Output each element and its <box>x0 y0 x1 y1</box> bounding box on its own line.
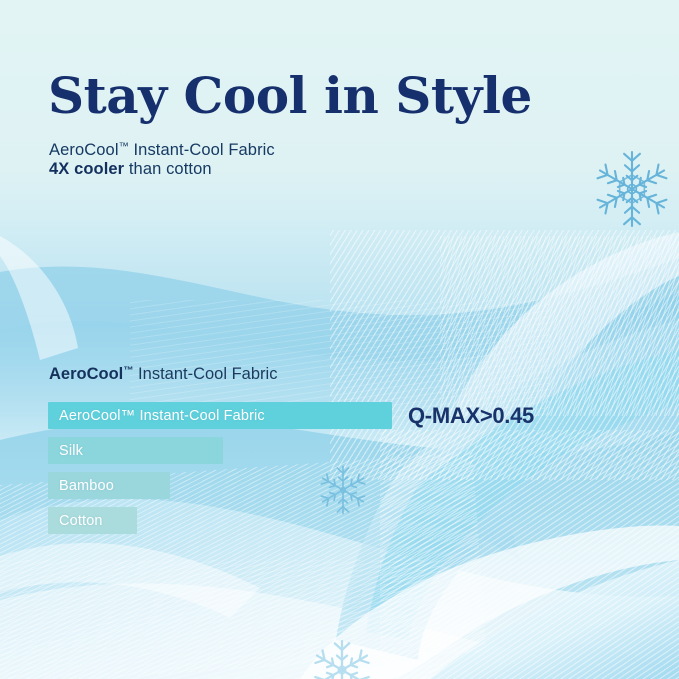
chart-bar-bamboo: Bamboo <box>48 472 170 499</box>
chart-title-brand: AeroCool <box>49 365 123 383</box>
promo-banner: Stay Cool in Style AeroCool™ Instant-Coo… <box>0 0 679 679</box>
chart-title: AeroCool™ Instant-Cool Fabric <box>49 365 277 384</box>
chart-title-rest: Instant-Cool Fabric <box>133 365 277 383</box>
chart-bar-label: Bamboo <box>59 478 114 494</box>
trademark-symbol: ™ <box>123 365 133 376</box>
chart-bar-aerocool: AeroCool™ Instant-Cool Fabric <box>48 402 392 429</box>
qmax-bar-chart: AeroCool™ Instant-Cool Fabric AeroCool™ … <box>0 0 679 679</box>
chart-bar-label: Silk <box>59 443 83 459</box>
chart-bar-label: Cotton <box>59 513 103 529</box>
chart-bar-silk: Silk <box>48 437 223 464</box>
chart-bar-label: AeroCool™ Instant-Cool Fabric <box>59 408 265 424</box>
chart-bar-cotton: Cotton <box>48 507 137 534</box>
qmax-annotation: Q-MAX>0.45 <box>408 402 534 429</box>
